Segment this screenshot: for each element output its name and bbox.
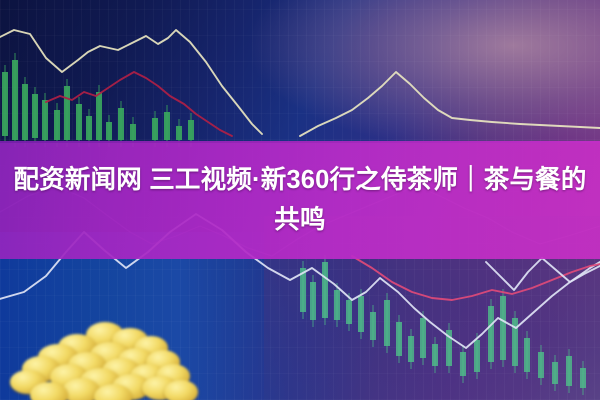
candlestick-wick <box>448 323 449 373</box>
candlestick-wick <box>336 283 337 327</box>
candlestick-wick <box>568 349 569 393</box>
candlestick-wick <box>78 97 79 147</box>
candlestick-wick <box>66 79 67 147</box>
candlestick-wick <box>34 87 35 145</box>
chart-line <box>0 30 262 134</box>
candlestick-wick <box>434 337 435 373</box>
candlestick-wick <box>24 77 25 147</box>
candlestick-wick <box>372 305 373 347</box>
candlestick-wick <box>422 311 423 365</box>
candlestick-wick <box>398 315 399 363</box>
chart-line <box>300 72 600 136</box>
gold-coin <box>164 380 198 400</box>
candlestick-wick <box>360 289 361 339</box>
candlestick-wick <box>514 311 515 373</box>
candlestick-wick <box>302 261 303 319</box>
candlestick-wick <box>44 93 45 147</box>
candlestick-wick <box>410 329 411 369</box>
page-title: 配资新闻网 三工视频·新360行之侍茶师｜茶与餐的共鸣 <box>10 160 590 240</box>
candlestick-wick <box>526 331 527 379</box>
candlestick-wick <box>582 361 583 395</box>
gold-coins-pile <box>0 318 209 400</box>
candlestick-wick <box>490 299 491 369</box>
candlestick-wick <box>324 255 325 325</box>
candlestick-wick <box>312 275 313 327</box>
chart-line <box>486 258 600 290</box>
chart-line <box>352 256 600 300</box>
candlestick-wick <box>540 345 541 385</box>
title-container: 配资新闻网 三工视频·新360行之侍茶师｜茶与餐的共鸣 <box>0 141 600 259</box>
candlestick-wick <box>462 345 463 383</box>
banner-image: 配资新闻网 三工视频·新360行之侍茶师｜茶与餐的共鸣 <box>0 0 600 400</box>
candlestick-wick <box>502 289 503 367</box>
chart-line <box>46 72 232 136</box>
candlestick-wick <box>554 355 555 391</box>
candlestick-wick <box>14 53 15 147</box>
candlestick-wick <box>386 293 387 353</box>
candlestick-wick <box>4 65 5 143</box>
